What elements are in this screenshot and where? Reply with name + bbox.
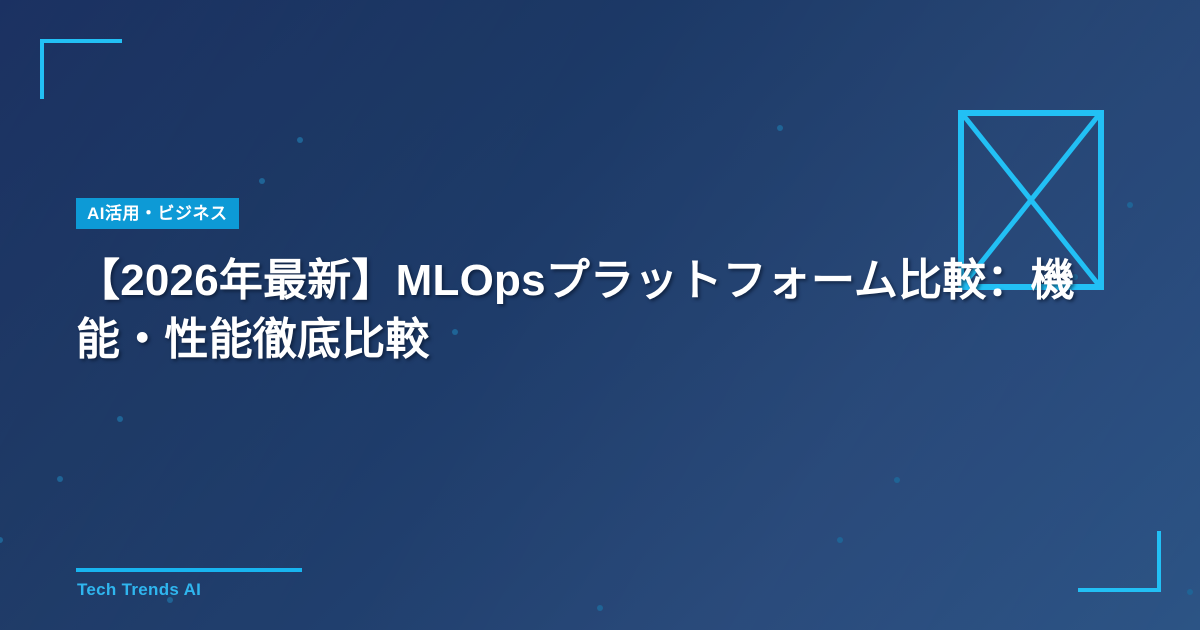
page-title: 【2026年最新】MLOpsプラットフォーム比較：機能・性能徹底比較 — [76, 252, 1106, 369]
footer-divider — [76, 568, 302, 572]
dot-particle — [57, 476, 63, 482]
brand-name: Tech Trends AI — [77, 580, 201, 600]
dot-particle — [1187, 589, 1193, 595]
card-content: AI活用・ビジネス 【2026年最新】MLOpsプラットフォーム比較：機能・性能… — [76, 0, 1124, 630]
og-card: AI活用・ビジネス 【2026年最新】MLOpsプラットフォーム比較：機能・性能… — [0, 0, 1200, 630]
bracket-vertical-line — [1157, 531, 1161, 592]
dot-particle — [1127, 202, 1133, 208]
dot-particle — [0, 537, 3, 543]
bracket-vertical-line — [40, 39, 44, 99]
category-badge: AI活用・ビジネス — [76, 198, 239, 229]
